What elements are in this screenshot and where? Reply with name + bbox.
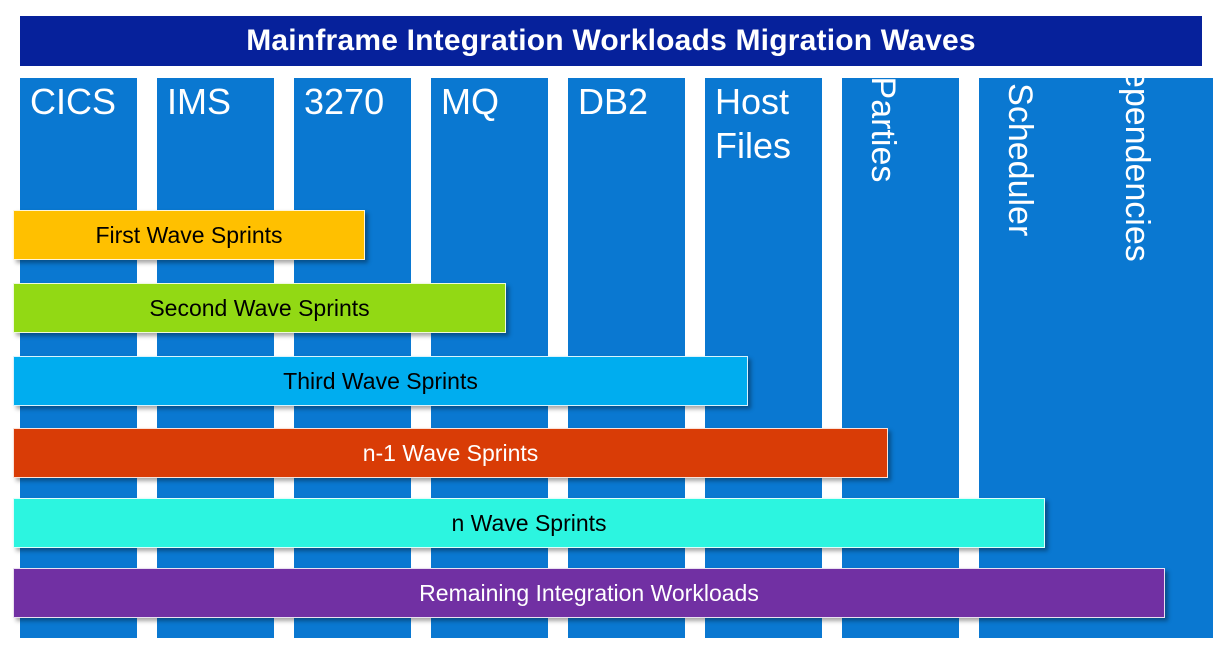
- column-label-rotator: Jobs and Scheduler: [979, 78, 1096, 638]
- diagram-canvas: Mainframe Integration Workloads Migratio…: [0, 0, 1222, 648]
- wave-bar-label: n Wave Sprints: [451, 510, 606, 536]
- wave-bar-label: n-1 Wave Sprints: [363, 440, 539, 466]
- wave-bar-label: Remaining Integration Workloads: [419, 580, 759, 606]
- workload-column-external-dependencies[interactable]: External Dependencies: [1096, 78, 1213, 638]
- column-label-rotator: External Dependencies: [1096, 78, 1213, 638]
- workload-column-third-parties[interactable]: Third Parties: [842, 78, 959, 638]
- wave-bar-label: First Wave Sprints: [95, 222, 282, 248]
- column-label: Jobs and Scheduler: [1002, 78, 1038, 236]
- column-label-rotator: Third Parties: [842, 78, 959, 638]
- wave-bar-label: Second Wave Sprints: [149, 295, 369, 321]
- wave-bar-first-wave-sprints[interactable]: First Wave Sprints: [13, 210, 365, 260]
- column-label: 3270: [304, 80, 407, 124]
- column-label: IMS: [167, 80, 270, 124]
- wave-bar-remaining-integration-workloads[interactable]: Remaining Integration Workloads: [13, 568, 1165, 618]
- column-label: CICS: [30, 80, 133, 124]
- wave-bar-label: Third Wave Sprints: [283, 368, 478, 394]
- column-label: External Dependencies: [1119, 78, 1155, 262]
- wave-bar-third-wave-sprints[interactable]: Third Wave Sprints: [13, 356, 748, 406]
- wave-bar-n-wave-sprints[interactable]: n Wave Sprints: [13, 498, 1045, 548]
- wave-bar-n-1-wave-sprints[interactable]: n-1 Wave Sprints: [13, 428, 888, 478]
- page-title: Mainframe Integration Workloads Migratio…: [246, 24, 976, 58]
- wave-bar-second-wave-sprints[interactable]: Second Wave Sprints: [13, 283, 506, 333]
- column-label: MQ: [441, 80, 544, 124]
- column-label: Third Parties: [865, 78, 901, 182]
- workload-column-jobs-and-scheduler[interactable]: Jobs and Scheduler: [979, 78, 1096, 638]
- column-label: DB2: [578, 80, 681, 124]
- column-label: Host Files: [715, 80, 818, 168]
- diagram-title-banner: Mainframe Integration Workloads Migratio…: [20, 16, 1202, 66]
